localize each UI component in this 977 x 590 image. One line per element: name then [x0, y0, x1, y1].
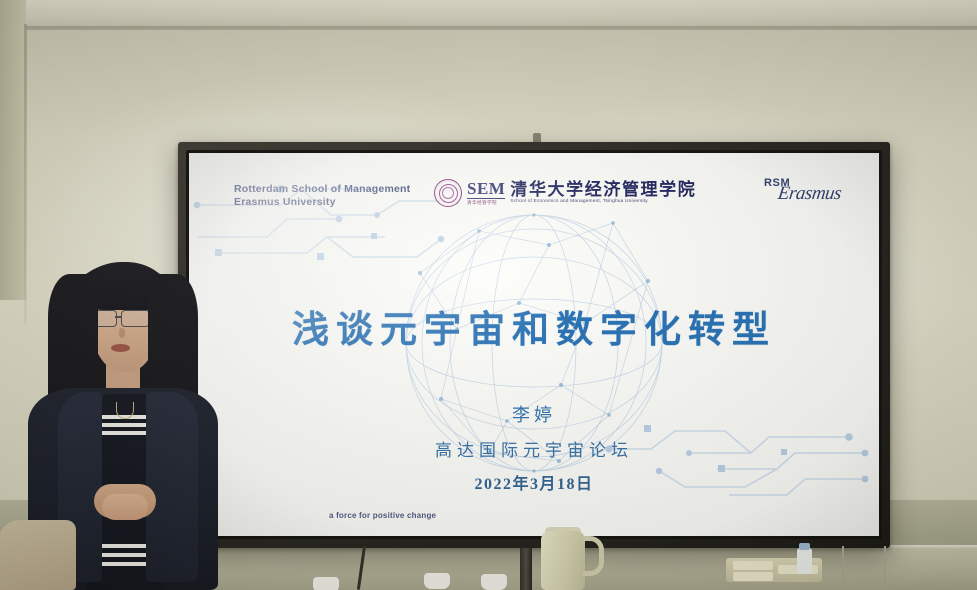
display-mount — [520, 548, 532, 590]
sem-acronym-block: SEM 清华经管学院 — [467, 180, 505, 205]
sem-seal-subtext: 清华经管学院 — [467, 201, 505, 206]
thermos-handle — [583, 536, 604, 576]
rsm-logo-line2: Erasmus University — [234, 196, 410, 209]
wall-corner — [24, 24, 27, 324]
sem-name-block: 清华大学经济管理学院 School of Economics and Manag… — [510, 181, 696, 205]
paper-cup — [313, 577, 339, 590]
water-bottle — [797, 548, 812, 574]
paper-cup — [424, 573, 450, 589]
sem-acronym: SEM — [467, 180, 505, 199]
presenter-hand-overlap — [102, 494, 148, 520]
tsinghua-seal-icon — [434, 179, 462, 207]
thermos-pitcher — [541, 531, 585, 590]
rsm-logo: Rotterdam School of Management Erasmus U… — [234, 183, 410, 208]
metal-rack — [842, 546, 886, 590]
snack-package — [733, 572, 773, 581]
rsm-logo-line1: Rotterdam School of Management — [234, 183, 410, 196]
presentation-slide: Rotterdam School of Management Erasmus U… — [189, 153, 879, 536]
presenter-mouth — [111, 344, 130, 352]
slide-title: 浅谈元宇宙和数字化转型 — [189, 299, 879, 353]
rsm-tagline: a force for positive change — [329, 511, 436, 520]
water-bottle-cap — [799, 543, 810, 550]
sem-name-cn: 清华大学经济管理学院 — [510, 181, 696, 198]
blazer-lapel-right — [146, 392, 198, 582]
wall-mounted-display: Rotterdam School of Management Erasmus U… — [178, 142, 890, 548]
slide-speaker-name: 李婷 — [189, 401, 879, 427]
conference-room-photo: Rotterdam School of Management Erasmus U… — [0, 0, 977, 590]
erasmus-signature-icon: Erasmus — [776, 183, 842, 205]
erasmus-logo: RSM Erasmus — [764, 177, 841, 205]
eyeglasses-lens-right — [121, 310, 150, 327]
eyeglasses-bridge — [115, 316, 121, 318]
presenter-nose — [119, 328, 125, 338]
snack-package — [733, 561, 773, 570]
left-wall — [0, 0, 26, 300]
slide-event-name: 高达国际元宇宙论坛 — [189, 436, 879, 461]
slide-date: 2022年3月18日 — [189, 470, 879, 494]
chair-back — [0, 520, 76, 590]
tsinghua-sem-logo: SEM 清华经管学院 清华大学经济管理学院 School of Economic… — [434, 179, 696, 207]
sem-name-en: School of Economics and Management, Tsin… — [510, 200, 696, 205]
paper-cup — [481, 574, 507, 590]
